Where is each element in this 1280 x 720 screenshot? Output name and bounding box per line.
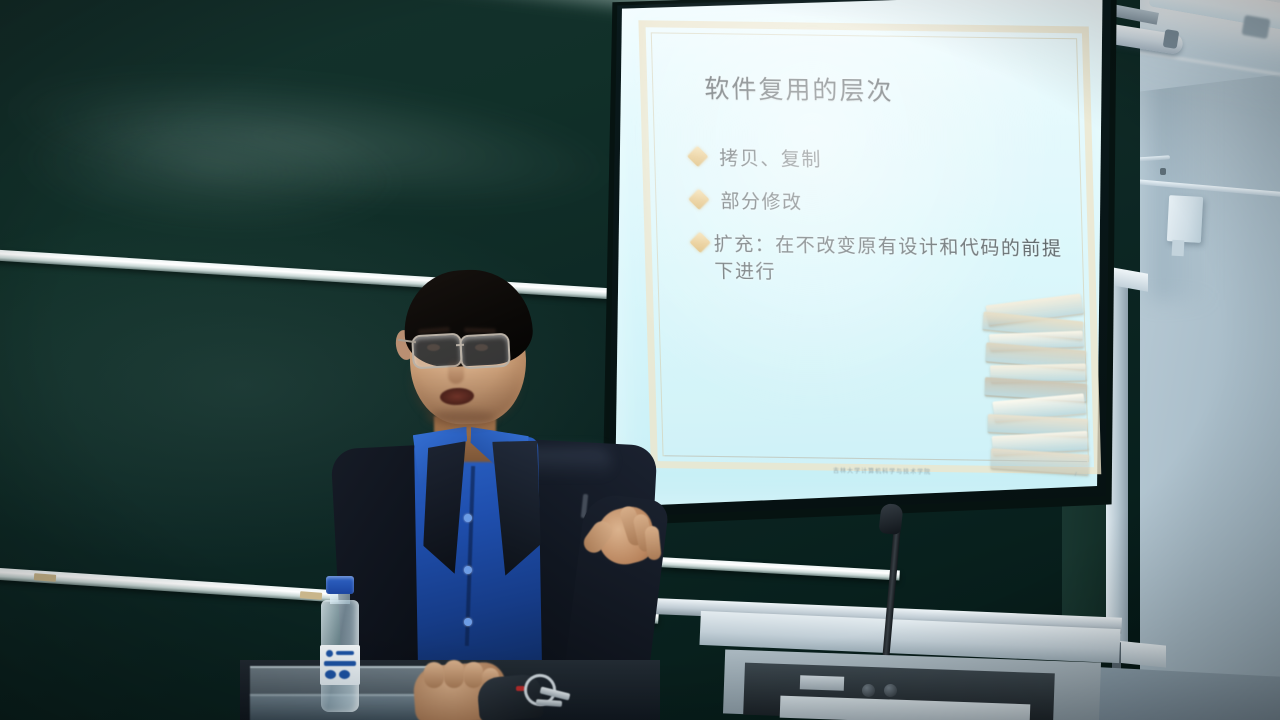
speaker-box [1167, 195, 1203, 243]
list-item: 扩充：在不改变原有设计和代码的前提下进行 [692, 231, 1064, 290]
knuckle [464, 662, 483, 688]
knuckle [444, 660, 464, 688]
bottle-cap[interactable] [326, 576, 354, 594]
roller-end-cap [1163, 29, 1180, 49]
label-text-blob [325, 670, 336, 679]
chin-shadow [426, 410, 496, 426]
rail-clip-mid [300, 591, 322, 600]
knuckle [424, 662, 444, 688]
bullet-text: 部分修改 [720, 188, 803, 216]
list-item: 拷贝、复制 [690, 145, 1061, 177]
shirt-button [464, 618, 472, 626]
bullet-text: 拷贝、复制 [719, 145, 822, 173]
diamond-bullet-icon [690, 232, 711, 253]
light-fixture-end-cap [1241, 15, 1270, 39]
chalk-smudge [16, 97, 403, 243]
label-text-blob [339, 670, 350, 679]
slide-footer-text: 吉林大学计算机科学与技术学院 [833, 466, 931, 476]
bullet-text: 扩充：在不改变原有设计和代码的前提下进行 [713, 231, 1064, 290]
slide-bullet-list: 拷贝、复制 部分修改 扩充：在不改变原有设计和代码的前提下进行 [690, 145, 1065, 306]
microphone-icon [878, 503, 903, 535]
lecture-hall-scene: 软件复用的层次 拷贝、复制 部分修改 扩充：在不改变原有设计和代码的前提下进行 … [0, 0, 1280, 720]
shirt-button [464, 514, 472, 522]
shirt-button [464, 566, 472, 574]
conduit-clip [1160, 168, 1166, 175]
speaker-box-bracket [1172, 240, 1185, 257]
eyeglasses-bridge [456, 344, 464, 346]
list-item: 部分修改 [691, 188, 1062, 220]
slide-title: 软件复用的层次 [704, 69, 894, 108]
rail-clip-left [34, 573, 56, 582]
nose [448, 358, 464, 384]
lecturer [330, 270, 710, 720]
book-stack-image [980, 299, 1097, 476]
label-text-line [336, 651, 354, 655]
slide-page-number: 7 [1074, 472, 1078, 478]
diamond-bullet-icon [687, 146, 708, 167]
label-text-line [324, 661, 356, 666]
lectern-panel-plate [800, 675, 844, 691]
eyeglasses-lens-right [459, 333, 511, 370]
label-logo-dot [326, 650, 333, 657]
diamond-bullet-icon [688, 189, 709, 210]
